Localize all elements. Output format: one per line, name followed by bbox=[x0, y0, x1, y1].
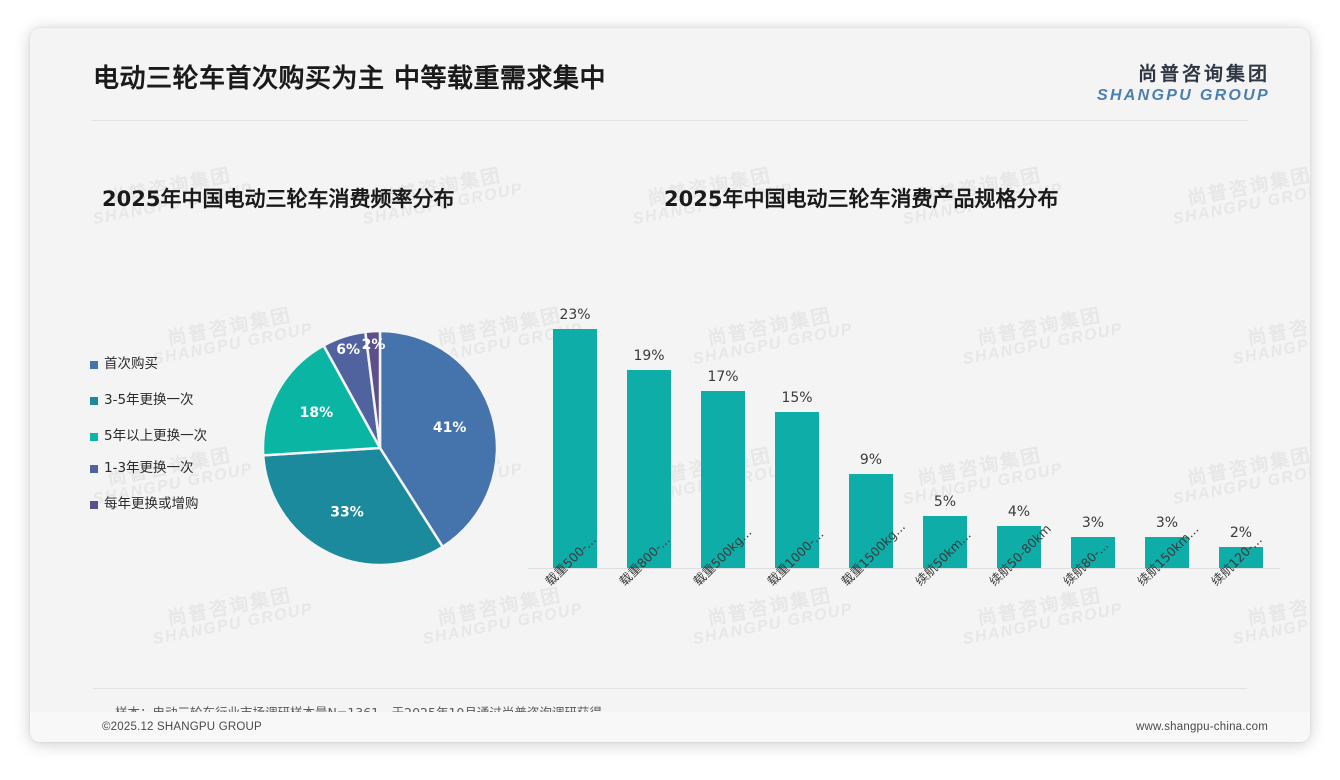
bar-column[interactable]: 5%续航50km... bbox=[910, 278, 980, 568]
slide-footer: ©2025.12 SHANGPU GROUP www.shangpu-china… bbox=[30, 712, 1310, 742]
logo-label-en: SHANGPU GROUP bbox=[1097, 87, 1270, 105]
pie-slice-value: 33% bbox=[330, 505, 364, 521]
pie-chart-title: 2025年中国电动三轮车消费频率分布 bbox=[102, 183, 454, 213]
bar-value-label: 15% bbox=[762, 390, 832, 406]
legend-item-label: 每年更换或增购 bbox=[104, 496, 222, 513]
legend-item-5[interactable]: 每年更换或增购 bbox=[90, 496, 222, 513]
bar-chart-panel: 23%载重500-...19%载重800-...17%载重500kg...15%… bbox=[520, 278, 1280, 638]
legend-item-1[interactable]: 首次购买 bbox=[90, 356, 222, 373]
bar-column[interactable]: 19%载重800-... bbox=[614, 278, 684, 568]
page-title: 电动三轮车首次购买为主 中等载重需求集中 bbox=[93, 58, 606, 95]
bar-value-label: 4% bbox=[984, 504, 1054, 520]
bar-column[interactable]: 23%载重500-... bbox=[540, 278, 610, 568]
bar-value-label: 23% bbox=[540, 307, 610, 323]
pie-slice-value: 18% bbox=[300, 405, 334, 421]
bar-column[interactable]: 4%续航50-80km bbox=[984, 278, 1054, 568]
legend-swatch-icon bbox=[90, 361, 98, 369]
bar-column[interactable]: 9%载重1500kg... bbox=[836, 278, 906, 568]
bar-column[interactable]: 2%续航120-... bbox=[1206, 278, 1276, 568]
bar-value-label: 17% bbox=[688, 369, 758, 385]
legend-swatch-icon bbox=[90, 397, 98, 405]
legend-item-label: 3-5年更换一次 bbox=[104, 392, 222, 409]
watermark-text: 尚普咨询集团SHANGPU GROUP bbox=[1168, 163, 1310, 229]
bar-column[interactable]: 17%载重500kg... bbox=[688, 278, 758, 568]
bar-value-label: 3% bbox=[1058, 515, 1128, 531]
pie-slice-value: 41% bbox=[433, 420, 467, 436]
legend-item-label: 1-3年更换一次 bbox=[104, 460, 222, 477]
bar-value-label: 5% bbox=[910, 494, 980, 510]
website-link[interactable]: www.shangpu-china.com bbox=[1136, 721, 1268, 733]
pie-chart: 41%33%18%6%2% bbox=[230, 278, 530, 578]
legend-item-2[interactable]: 3-5年更换一次 bbox=[90, 392, 222, 409]
bar-column[interactable]: 3%续航80-... bbox=[1058, 278, 1128, 568]
legend-item-label: 首次购买 bbox=[104, 356, 222, 373]
bar-value-label: 2% bbox=[1206, 525, 1276, 541]
legend-swatch-icon bbox=[90, 433, 98, 441]
slide-header: 电动三轮车首次购买为主 中等载重需求集中 尚普咨询集团 SHANGPU GROU… bbox=[30, 28, 1310, 121]
bar-chart-title: 2025年中国电动三轮车消费产品规格分布 bbox=[664, 183, 1058, 213]
bar-column[interactable]: 3%续航150km... bbox=[1132, 278, 1202, 568]
brand-logo: 尚普咨询集团 SHANGPU GROUP bbox=[1097, 59, 1270, 105]
legend-item-4[interactable]: 1-3年更换一次 bbox=[90, 460, 222, 477]
bar-plot-area: 23%载重500-...19%载重800-...17%载重500kg...15%… bbox=[528, 278, 1280, 568]
legend-item-3[interactable]: 5年以上更换一次 bbox=[90, 428, 222, 445]
slide-card: 尚普咨询集团SHANGPU GROUP尚普咨询集团SHANGPU GROUP尚普… bbox=[30, 28, 1310, 742]
pie-chart-svg: 41%33%18%6%2% bbox=[230, 303, 530, 593]
copyright-label: ©2025.12 SHANGPU GROUP bbox=[102, 721, 262, 733]
bar-column[interactable]: 15%载重1000-... bbox=[762, 278, 832, 568]
pie-slice-value: 2% bbox=[362, 337, 386, 353]
bar-rect[interactable] bbox=[553, 329, 597, 568]
bar-value-label: 19% bbox=[614, 348, 684, 364]
legend-swatch-icon bbox=[90, 465, 98, 473]
pie-slice-value: 6% bbox=[336, 342, 360, 358]
legend-item-label: 5年以上更换一次 bbox=[104, 428, 222, 445]
pie-chart-panel: 首次购买3-5年更换一次5年以上更换一次1-3年更换一次每年更换或增购 41%3… bbox=[70, 278, 540, 608]
legend-swatch-icon bbox=[90, 501, 98, 509]
logo-label-cn: 尚普咨询集团 bbox=[1097, 59, 1270, 86]
bar-value-label: 9% bbox=[836, 452, 906, 468]
